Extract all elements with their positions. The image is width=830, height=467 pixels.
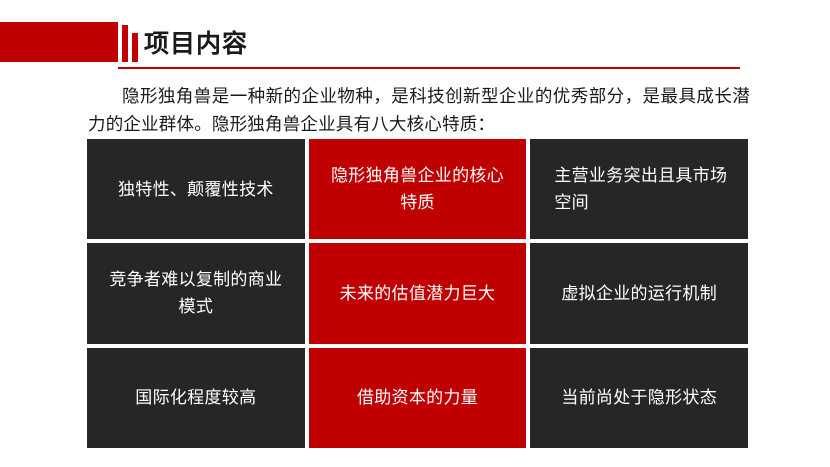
feature-cell: 独特性、颠覆性技术 (87, 139, 305, 239)
feature-cell: 当前尚处于隐形状态 (530, 348, 748, 448)
feature-cell-label: 虚拟企业的运行机制 (561, 280, 717, 307)
feature-cell-label: 竞争者难以复制的商业模式 (105, 266, 287, 320)
feature-cell: 主营业务突出且具市场空间 (530, 139, 748, 239)
feature-cell: 虚拟企业的运行机制 (530, 243, 748, 343)
feature-cell-label: 未来的估值潜力巨大 (340, 280, 496, 307)
feature-cell-label: 主营业务突出且具市场空间 (548, 162, 730, 216)
feature-grid: 独特性、颠覆性技术 隐形独角兽企业的核心特质 主营业务突出且具市场空间 竞争者难… (87, 139, 748, 448)
page-title: 项目内容 (144, 28, 248, 60)
feature-cell-label: 独特性、颠覆性技术 (118, 176, 274, 203)
slide-root: 项目内容 隐形独角兽是一种新的企业物种，是科技创新型企业的优秀部分，是最具成长潜… (0, 0, 830, 467)
feature-cell-label: 隐形独角兽企业的核心特质 (327, 162, 509, 216)
feature-cell-highlight: 借助资本的力量 (309, 348, 527, 448)
slide-header: 项目内容 (0, 0, 830, 75)
header-underline-divider (118, 67, 740, 69)
header-accent-bar-tall-icon (122, 25, 128, 62)
feature-cell-label: 国际化程度较高 (135, 384, 256, 411)
header-red-block-decoration (0, 22, 118, 62)
feature-cell-label: 借助资本的力量 (357, 384, 478, 411)
intro-paragraph: 隐形独角兽是一种新的企业物种，是科技创新型企业的优秀部分，是最具成长潜力的企业群… (88, 82, 750, 138)
feature-cell-label: 当前尚处于隐形状态 (561, 384, 717, 411)
header-accent-bar-short-icon (132, 33, 138, 62)
feature-cell-highlight: 隐形独角兽企业的核心特质 (309, 139, 527, 239)
feature-cell-highlight: 未来的估值潜力巨大 (309, 243, 527, 343)
feature-cell: 国际化程度较高 (87, 348, 305, 448)
feature-cell: 竞争者难以复制的商业模式 (87, 243, 305, 343)
